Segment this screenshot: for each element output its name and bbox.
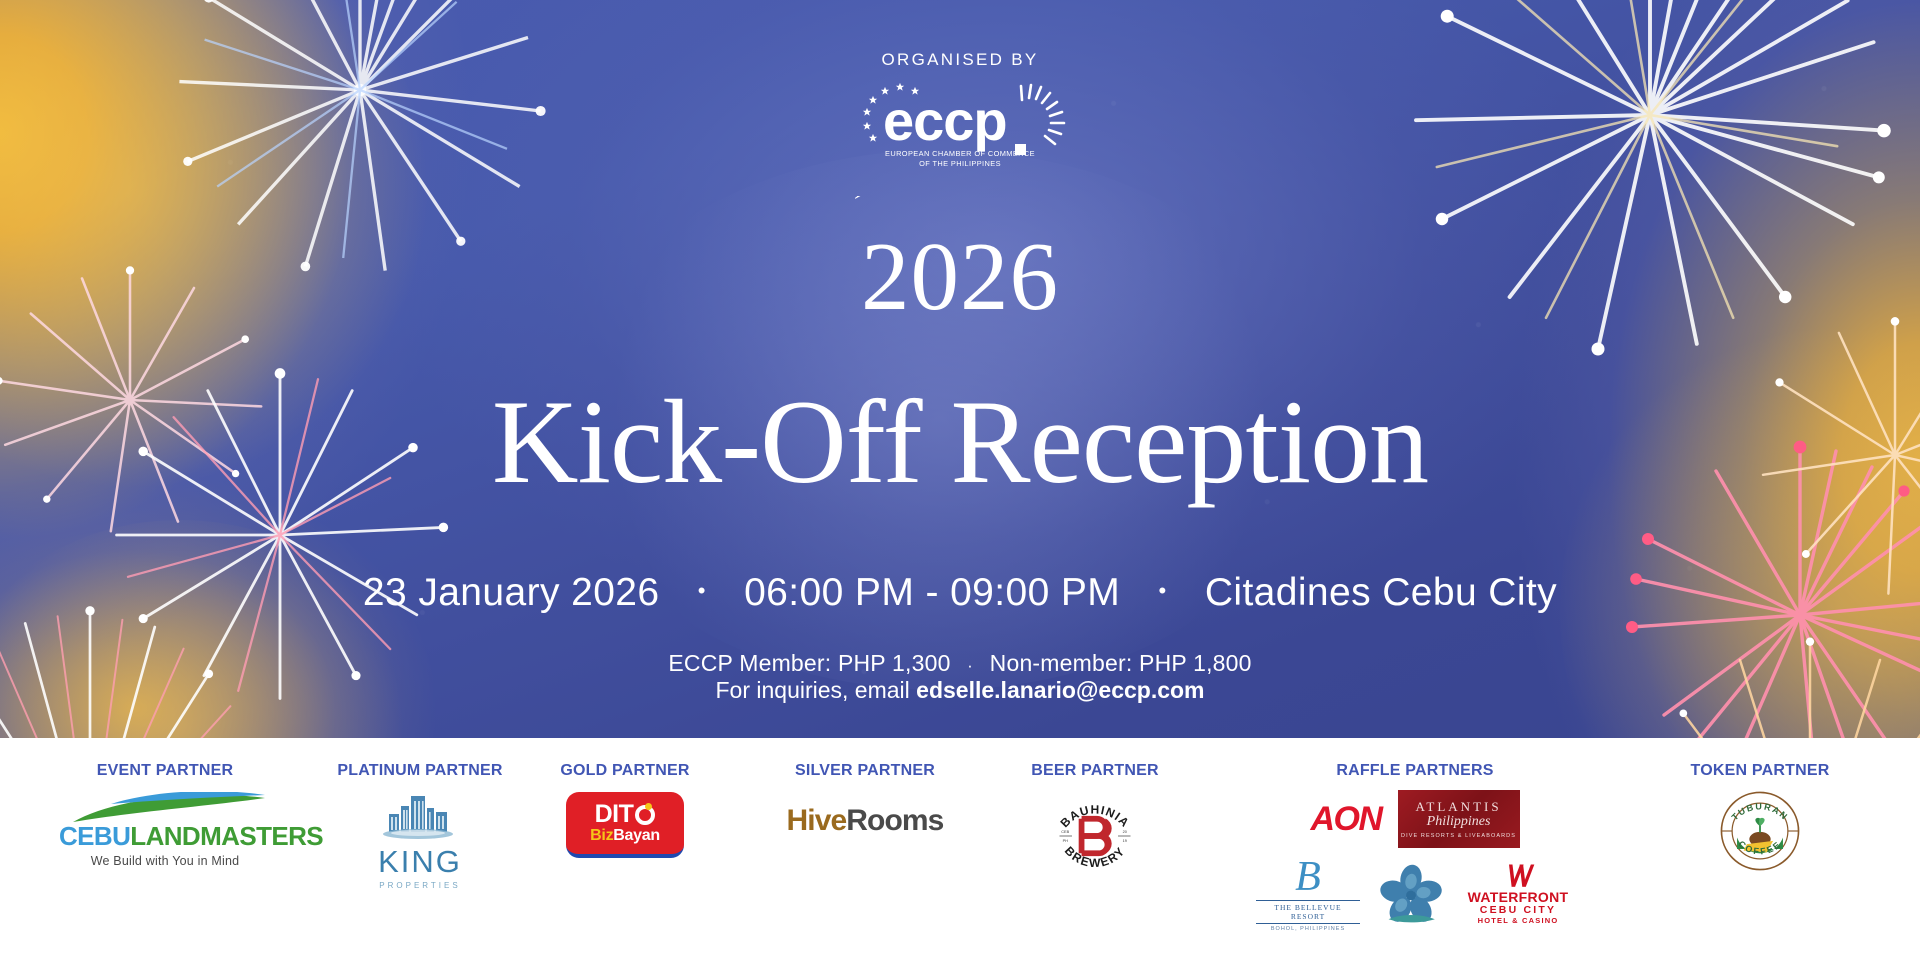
price-nonmember: Non-member: PHP 1,800 [990,650,1252,676]
dito-o-icon [635,805,655,825]
hiverooms-logo[interactable]: HiveRooms [787,806,944,836]
arc-title-text: ECCP Cebu [841,196,1079,206]
svg-text:PH: PH [1063,839,1069,843]
bizbayan-word-1: Biz [590,827,613,844]
hiverooms-word-2: Rooms [846,804,943,837]
sponsor-tier-label: SILVER PARTNER [740,738,990,780]
price-member: ECCP Member: PHP 1,300 [668,650,950,676]
king-properties-logo[interactable]: KING PROPERTIES [355,792,485,890]
tuburan-coffee-logo[interactable]: TUBURAN COFFEE [1719,790,1801,872]
eccp-logo: eccp EUROPEAN CHAMBER OF COMMERCE OF THE… [845,78,1075,170]
sponsor-tier-label: TOKEN PARTNER [1620,738,1900,780]
sponsor-tier-token-partner: TOKEN PARTNER [1620,738,1900,872]
sponsor-tier-silver-partner: SILVER PARTNER HiveRooms [740,738,990,836]
event-venue: Citadines Cebu City [1205,571,1557,614]
atlantis-philippines-logo[interactable]: ATLANTIS Philippines DIVE RESORTS & LIVE… [1398,790,1520,848]
dito-wordmark: DIT [595,802,656,827]
page-title: Kick-Off Reception [0,382,1920,502]
inquiries-prefix: For inquiries, email [715,677,916,703]
detail-separator-2: • [1158,578,1166,604]
waterfront-w-icon: \/\/ [1462,863,1574,890]
sponsor-row: EVENT PARTNER CEBULANDMASTERS We Build w… [0,738,1920,960]
event-time: 06:00 PM - 09:00 PM [744,571,1120,614]
svg-text:19: 19 [1123,839,1127,843]
detail-separator-1: • [698,578,706,604]
svg-text:eccp: eccp [883,89,1007,152]
sponsor-tier-beer-partner: BEER PARTNER BAUHINIA BREWERY [975,738,1215,884]
organised-by-label: ORGANISED BY [0,50,1920,70]
year-2026: 2026 [0,228,1920,325]
price-separator: · [967,656,973,675]
bizbayan-wordmark: BizBayan [590,828,660,844]
waterfront-line-3: HOTEL & CASINO [1462,916,1574,925]
dito-word: DIT [595,802,634,827]
king-wordmark: KING [355,846,485,877]
eccp-logo-line1: EUROPEAN CHAMBER OF COMMERCE [885,149,1035,158]
svg-text:BREWERY: BREWERY [1062,844,1128,870]
landmasters-word-1: CEBU [59,821,130,851]
bellevue-resort-logo[interactable]: B THE BELLEVUE RESORT BOHOL, PHILIPPINES [1256,856,1360,932]
bellevue-monogram: B [1256,856,1360,898]
event-date: 23 January 2026 [363,571,660,614]
inquiries-line: For inquiries, email edselle.lanario@ecc… [0,677,1920,704]
contact-email[interactable]: edselle.lanario@eccp.com [916,677,1204,703]
sunburst-rays [1021,85,1064,144]
sponsor-tier-label: RAFFLE PARTNERS [1215,738,1615,780]
waterfront-line-2: CEBU CITY [1462,904,1574,916]
atlantis-line-2: Philippines [1427,814,1491,830]
hiverooms-word-1: Hive [787,804,847,837]
atlantis-line-3: DIVE RESORTS & LIVEABOARDS [1401,833,1516,839]
svg-text:ECCP Cebu: ECCP Cebu [841,196,1079,206]
eccp-logo-line2: OF THE PHILIPPINES [919,159,1001,168]
eccp-wordmark: eccp [883,89,1007,152]
sponsor-bar: EVENT PARTNER CEBULANDMASTERS We Build w… [0,738,1920,960]
hero-content: ORGANISED BY [0,0,1920,738]
king-skyline-icon [365,792,475,840]
aon-logo[interactable]: AON [1310,802,1381,836]
svg-text:20: 20 [1123,830,1127,834]
hero-background: ORGANISED BY [0,0,1920,738]
landmasters-wordmark: CEBULANDMASTERS [59,823,271,849]
svg-text:CEB: CEB [1061,830,1069,834]
sponsor-tier-label: BEER PARTNER [975,738,1215,780]
sponsor-tier-label: EVENT PARTNER [30,738,300,780]
bauhinia-brewery-logo[interactable]: BAUHINIA BREWERY [1047,788,1143,884]
pricing-line: ECCP Member: PHP 1,300 · Non-member: PHP… [0,650,1920,677]
waterfront-line-1: WATERFRONT [1462,890,1574,905]
event-details: 23 January 2026 • 06:00 PM - 09:00 PM • … [0,571,1920,615]
blue-flower-resort-logo[interactable] [1376,859,1446,929]
sponsor-tier-gold-partner: GOLD PARTNER DIT BizBayan [500,738,750,858]
king-subtitle: PROPERTIES [355,881,485,890]
landmasters-tagline: We Build with You in Mind [59,854,271,868]
sponsor-tier-label: GOLD PARTNER [500,738,750,780]
atlantis-line-1: ATLANTIS [1415,799,1501,815]
bauhinia-monogram [1082,819,1110,854]
waterfront-cebu-city-logo[interactable]: \/\/ WATERFRONT CEBU CITY HOTEL & CASINO [1462,863,1574,926]
sponsor-tier-raffle-partners: RAFFLE PARTNERS AON ATLANTIS Philippines… [1215,738,1615,932]
dito-bizbayan-logo[interactable]: DIT BizBayan [566,792,684,858]
cebu-landmasters-logo[interactable]: CEBULANDMASTERS We Build with You in Min… [59,792,271,868]
bellevue-line-1: THE BELLEVUE RESORT [1256,900,1360,924]
event-banner: ORGANISED BY [0,0,1920,960]
bellevue-line-2: BOHOL, PHILIPPINES [1256,926,1360,932]
bizbayan-word-2: Bayan [613,827,660,844]
sponsor-tier-event-partner: EVENT PARTNER CEBULANDMASTERS We Build w… [30,738,300,868]
bauhinia-bottom-arc: BREWERY [1062,844,1128,870]
